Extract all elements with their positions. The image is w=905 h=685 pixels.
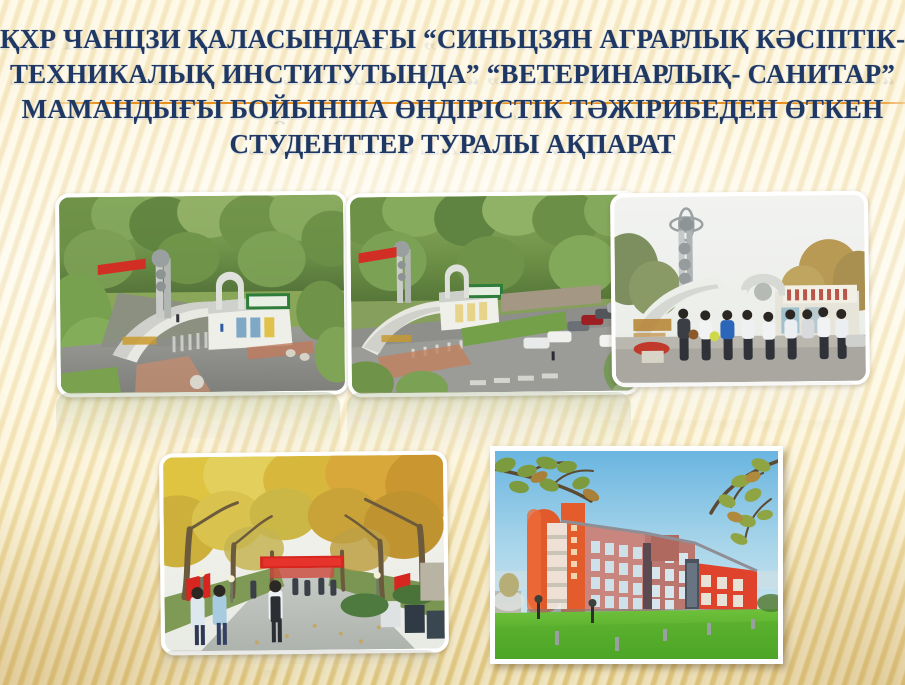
title-line-2-text: ТЕХНИКАЛЫҚ ИНСТИТУТЫНДА” “ВЕТЕРИНАРЛЫҚ- … <box>10 59 895 89</box>
photo-2-artwork <box>350 195 636 394</box>
title-line-3: МАМАНДЫҒЫ БОЙЫНША ӨНДІРІСТІК ТӘЖІРИБЕДЕН… <box>0 92 905 127</box>
photo-4-reflection-artwork <box>160 650 440 684</box>
presentation-slide: ҚХР ЧАНЦЗИ ҚАЛАСЫНДАҒЫ “СИНЬЦЗЯН АГРАРЛЫ… <box>0 0 905 685</box>
title-line-4-text: СТУДЕНТТЕР ТУРАЛЫ АҚПАРАТ <box>230 129 676 159</box>
photo-campus-gate-aerial-2 <box>346 190 640 397</box>
title-line-1-text: ҚХР ЧАНЦЗИ ҚАЛАСЫНДАҒЫ “СИНЬЦЗЯН АГРАРЛЫ… <box>0 24 905 54</box>
photo-campus-gate-aerial-1 <box>55 190 349 397</box>
photo-autumn-avenue <box>159 450 449 655</box>
photo-3-reflection-artwork <box>611 382 861 440</box>
photo-students-at-gate-reflection <box>611 382 861 440</box>
title-line-1: ҚХР ЧАНЦЗИ ҚАЛАСЫНДАҒЫ “СИНЬЦЗЯН АГРАРЛЫ… <box>0 22 905 57</box>
title-line-2: ТЕХНИКАЛЫҚ ИНСТИТУТЫНДА” “ВЕТЕРИНАРЛЫҚ- … <box>0 57 905 92</box>
photo-students-at-gate <box>610 191 870 388</box>
title-line-4: СТУДЕНТТЕР ТУРАЛЫ АҚПАРАТ СТУДЕНТТЕР ТУР… <box>0 127 905 162</box>
photo-autumn-avenue-reflection <box>160 650 440 684</box>
title-line-3-text: МАМАНДЫҒЫ БОЙЫНША ӨНДІРІСТІК ТӘЖІРИБЕДЕН… <box>22 94 884 124</box>
photo-academic-building <box>490 446 783 664</box>
photo-5-artwork <box>495 451 778 659</box>
photo-4-artwork <box>163 455 445 652</box>
photo-3-artwork <box>614 195 866 384</box>
photo-1-artwork <box>59 195 345 394</box>
slide-title: ҚХР ЧАНЦЗИ ҚАЛАСЫНДАҒЫ “СИНЬЦЗЯН АГРАРЛЫ… <box>0 22 905 162</box>
